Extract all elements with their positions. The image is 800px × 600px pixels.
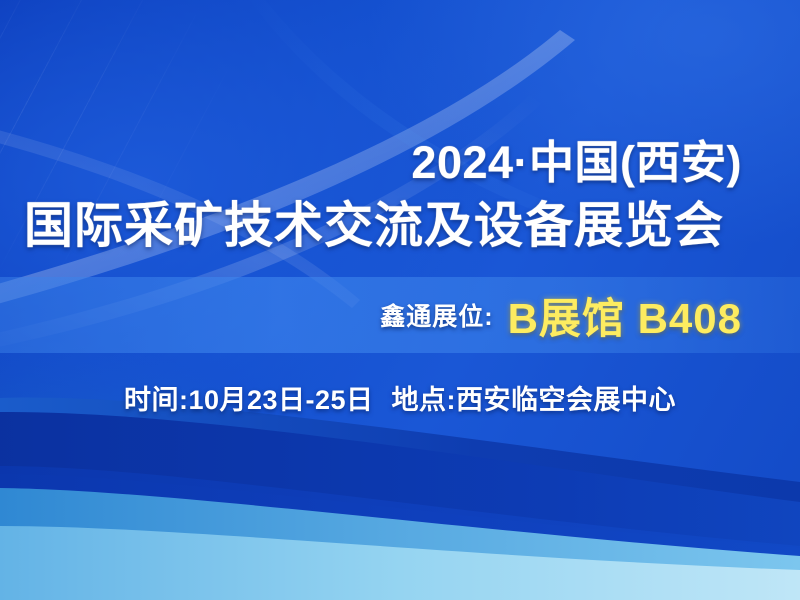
event-date: 时间:10月23日-25日	[124, 378, 374, 417]
booth-info-row: 鑫通展位: B展馆 B408	[0, 282, 800, 348]
page-title-line-1: 2024·中国(西安)	[411, 126, 742, 191]
event-location: 地点:西安临空会展中心	[392, 378, 677, 417]
exhibition-poster: 2024·中国(西安) 国际采矿技术交流及设备展览会 鑫通展位: B展馆 B40…	[0, 0, 800, 600]
page-title-line-2: 国际采矿技术交流及设备展览会	[24, 186, 724, 257]
event-details-line: 时间:10月23日-25日地点:西安临空会展中心	[0, 378, 800, 417]
booth-label: 鑫通展位:	[380, 297, 493, 333]
booth-number: B展馆 B408	[508, 285, 742, 346]
